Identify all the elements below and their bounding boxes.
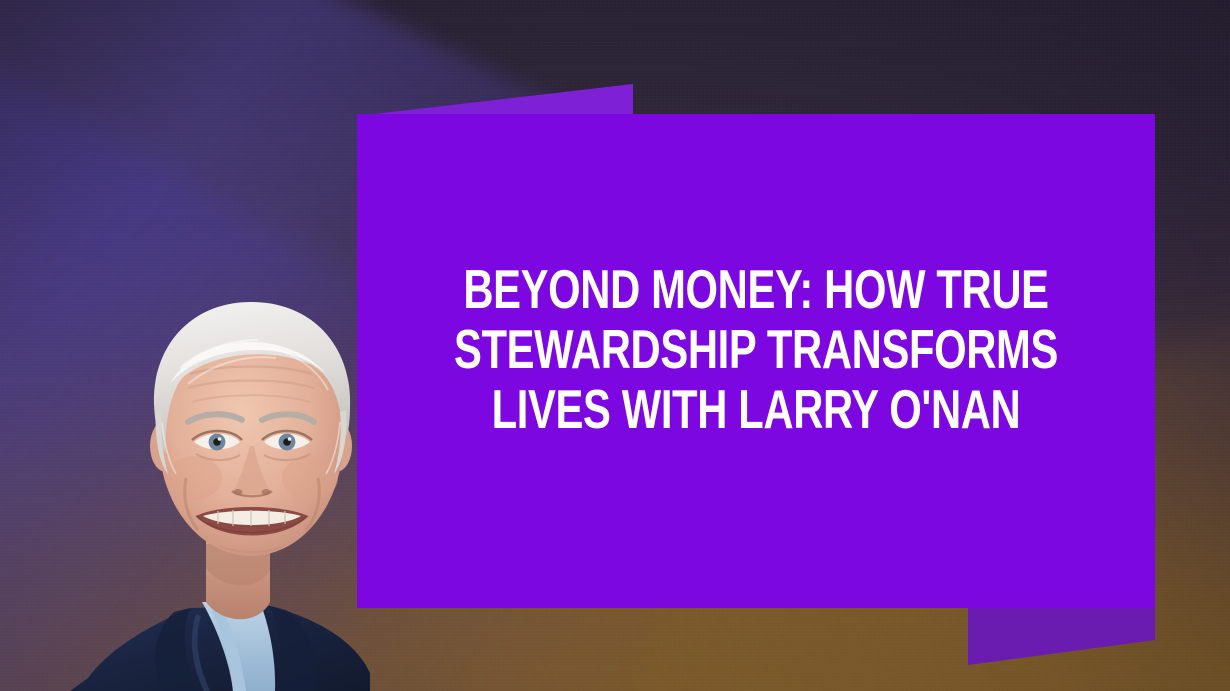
episode-cover-canvas: BEYOND MONEY: HOW TRUE STEWARDSHIP TRANS… (0, 0, 1230, 691)
episode-title-line-2: STEWARDSHIP TRANSFORMS (453, 319, 1059, 379)
episode-title: BEYOND MONEY: HOW TRUE STEWARDSHIP TRANS… (453, 259, 1059, 439)
title-card: BEYOND MONEY: HOW TRUE STEWARDSHIP TRANS… (357, 114, 1155, 608)
episode-title-line-3: LIVES WITH LARRY O'NAN (453, 379, 1059, 439)
episode-title-line-1: BEYOND MONEY: HOW TRUE (453, 259, 1059, 319)
